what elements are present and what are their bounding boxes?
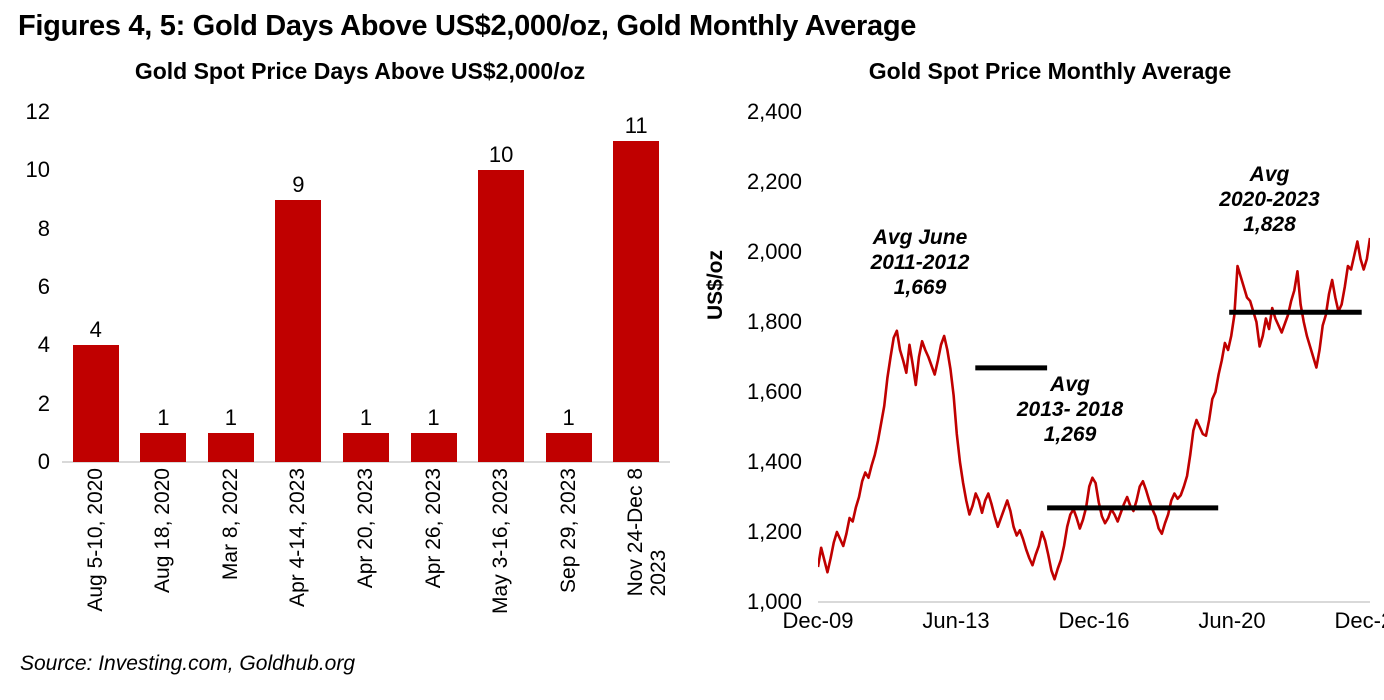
bar-value-label: 4 [90, 318, 102, 342]
bar-value-label: 11 [625, 114, 648, 138]
figure-container: Figures 4, 5: Gold Days Above US$2,000/o… [0, 0, 1384, 700]
bar[interactable] [275, 200, 321, 463]
line-chart-y-tick: 1,200 [740, 521, 802, 543]
line-chart-y-tick: 1,400 [740, 451, 802, 473]
bar-group[interactable]: 11 [602, 112, 670, 462]
line-chart-title: Gold Spot Price Monthly Average [740, 58, 1360, 85]
bar-group[interactable]: 9 [265, 112, 333, 462]
bar-value-label: 1 [563, 406, 575, 430]
line-chart-y-tick: 2,000 [740, 241, 802, 263]
line-chart-y-tick: 1,600 [740, 381, 802, 403]
bar-group[interactable]: 1 [130, 112, 198, 462]
bar-chart-y-tick: 2 [4, 393, 50, 415]
bar[interactable] [208, 433, 254, 462]
line-chart-y-tick: 2,200 [740, 171, 802, 193]
annotation-line: Avg June [820, 225, 1020, 250]
bar-chart-x-tick: Mar 8, 2022 [219, 468, 242, 580]
bar[interactable] [73, 345, 119, 462]
bar-chart-x-tick: Sep 29, 2023 [557, 468, 580, 593]
source-note: Source: Investing.com, Goldhub.org [20, 652, 355, 676]
bar-value-label: 9 [292, 173, 304, 197]
bar-chart-y-tick: 8 [4, 218, 50, 240]
bar-group[interactable]: 1 [197, 112, 265, 462]
bar-chart-y-tick: 6 [4, 276, 50, 298]
annotation-avg-2013-2018: Avg2013- 20181,269 [975, 372, 1165, 447]
line-chart-x-tick: Dec-09 [783, 610, 854, 632]
line-chart-x-tick: Jun-13 [922, 610, 989, 632]
bar-chart: 024681012 41191110111 Aug 5-10, 2020Aug … [0, 100, 690, 660]
bar[interactable] [343, 433, 389, 462]
bar-group[interactable]: 1 [535, 112, 603, 462]
annotation-line: 1,269 [975, 422, 1165, 447]
bar-chart-title: Gold Spot Price Days Above US$2,000/oz [40, 58, 680, 85]
bar-chart-plot-area: 41191110111 [62, 112, 670, 462]
bar-value-label: 10 [489, 143, 513, 167]
annotation-line: 2011-2012 [820, 250, 1020, 275]
bar-chart-x-tick: Aug 5-10, 2020 [84, 468, 107, 612]
bar-chart-y-tick: 0 [4, 451, 50, 473]
bar-group[interactable]: 1 [332, 112, 400, 462]
bar[interactable] [613, 141, 659, 462]
bar-group[interactable]: 4 [62, 112, 130, 462]
bar[interactable] [478, 170, 524, 462]
bar[interactable] [546, 433, 592, 462]
line-chart: US$/oz 1,0001,2001,4001,6001,8002,0002,2… [700, 100, 1384, 660]
annotation-line: Avg [975, 372, 1165, 397]
bar-chart-x-tick: Apr 26, 2023 [422, 468, 445, 588]
annotation-avg-2020-2023: Avg2020-20231,828 [1172, 162, 1367, 237]
bar-chart-x-tick: Apr 4-14, 2023 [286, 468, 309, 607]
bar-chart-y-tick: 12 [4, 101, 50, 123]
bar-chart-x-tick: Nov 24-Dec 8 2023 [624, 468, 670, 596]
bar-value-label: 1 [225, 406, 237, 430]
bar-chart-x-tick: Aug 18, 2020 [151, 468, 174, 593]
line-chart-x-tick: Dec-23 [1335, 610, 1384, 632]
annotation-line: 2020-2023 [1172, 187, 1367, 212]
annotation-line: 1,828 [1172, 212, 1367, 237]
bar-chart-y-tick: 10 [4, 159, 50, 181]
annotation-avg-2011-2012: Avg June2011-20121,669 [820, 225, 1020, 300]
bar-value-label: 1 [157, 406, 169, 430]
bar[interactable] [140, 433, 186, 462]
page-title: Figures 4, 5: Gold Days Above US$2,000/o… [18, 10, 916, 43]
bar-value-label: 1 [427, 406, 439, 430]
annotation-line: 2013- 2018 [975, 397, 1165, 422]
bar-group[interactable]: 10 [467, 112, 535, 462]
line-chart-x-tick: Jun-20 [1198, 610, 1265, 632]
line-chart-x-tick: Dec-16 [1059, 610, 1130, 632]
bar-chart-y-tick: 4 [4, 334, 50, 356]
bar[interactable] [411, 433, 457, 462]
line-chart-y-tick: 1,800 [740, 311, 802, 333]
bar-group[interactable]: 1 [400, 112, 468, 462]
annotation-line: 1,669 [820, 275, 1020, 300]
bar-value-label: 1 [360, 406, 372, 430]
annotation-line: Avg [1172, 162, 1367, 187]
line-chart-y-axis-label: US$/oz [704, 250, 728, 320]
line-chart-y-tick: 2,400 [740, 101, 802, 123]
bar-chart-x-tick: May 3-16, 2023 [489, 468, 512, 614]
bar-chart-x-tick: Apr 20, 2023 [354, 468, 377, 588]
